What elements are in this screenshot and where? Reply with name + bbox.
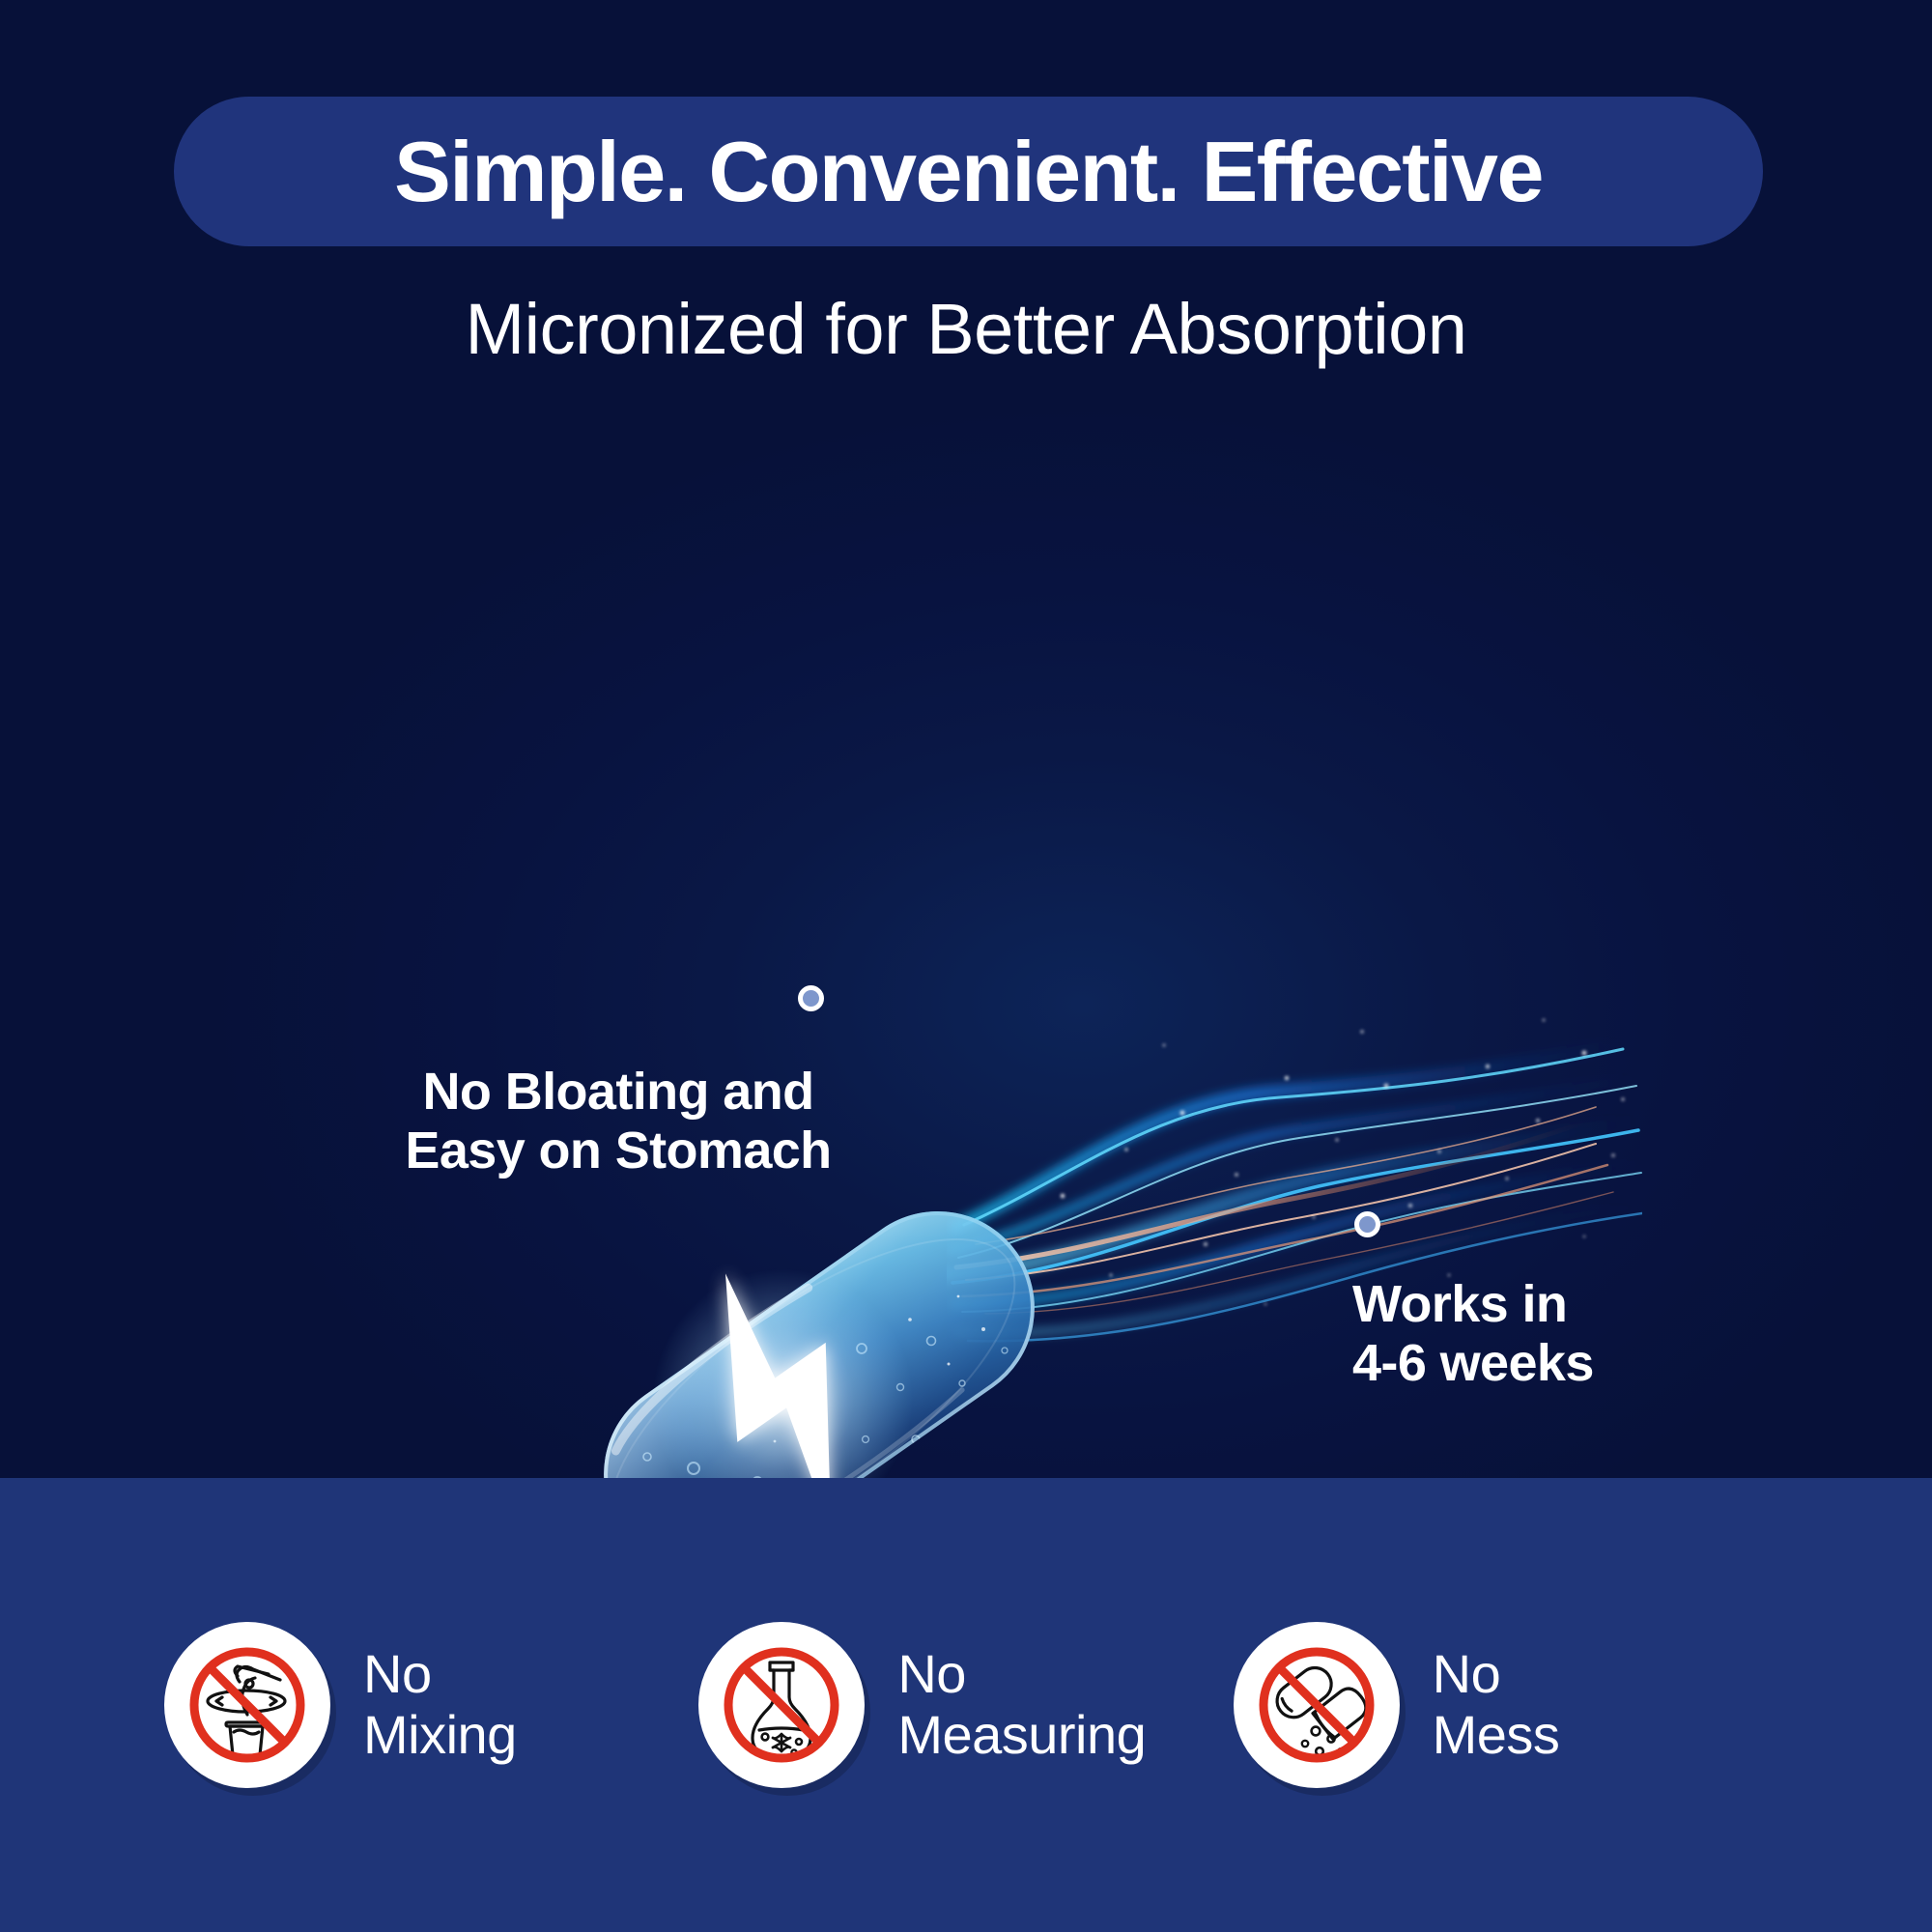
badge-no-measuring: No Measuring <box>698 1622 1233 1788</box>
callout-dot-icon-works <box>1354 1211 1380 1237</box>
hero-section: No Bloating and Easy on Stomach Works in… <box>0 415 1932 1478</box>
title-banner: Simple. Convenient. Effective <box>174 97 1763 246</box>
benefits-band: No Mixing <box>0 1478 1932 1932</box>
page-title: Simple. Convenient. Effective <box>394 129 1543 214</box>
page-subtitle: Micronized for Better Absorption <box>0 290 1932 368</box>
callout-label-works: Works in 4-6 weeks <box>1352 1275 1758 1393</box>
no-measuring-icon <box>698 1622 865 1788</box>
badge-label-no-mess: No Mess <box>1433 1644 1560 1765</box>
badge-label-no-mixing: No Mixing <box>363 1644 517 1765</box>
badge-no-mixing: No Mixing <box>164 1622 698 1788</box>
badge-no-mess: No Mess <box>1234 1622 1768 1788</box>
poster-canvas: Simple. Convenient. Effective Micronized… <box>0 0 1932 1932</box>
no-mess-icon <box>1234 1622 1400 1788</box>
callout-dot-icon-bloating <box>798 985 824 1011</box>
benefits-row: No Mixing <box>0 1478 1932 1932</box>
no-mixing-icon <box>164 1622 330 1788</box>
callout-label-bloating: No Bloating and Easy on Stomach <box>377 1063 860 1180</box>
badge-label-no-measuring: No Measuring <box>897 1644 1146 1765</box>
